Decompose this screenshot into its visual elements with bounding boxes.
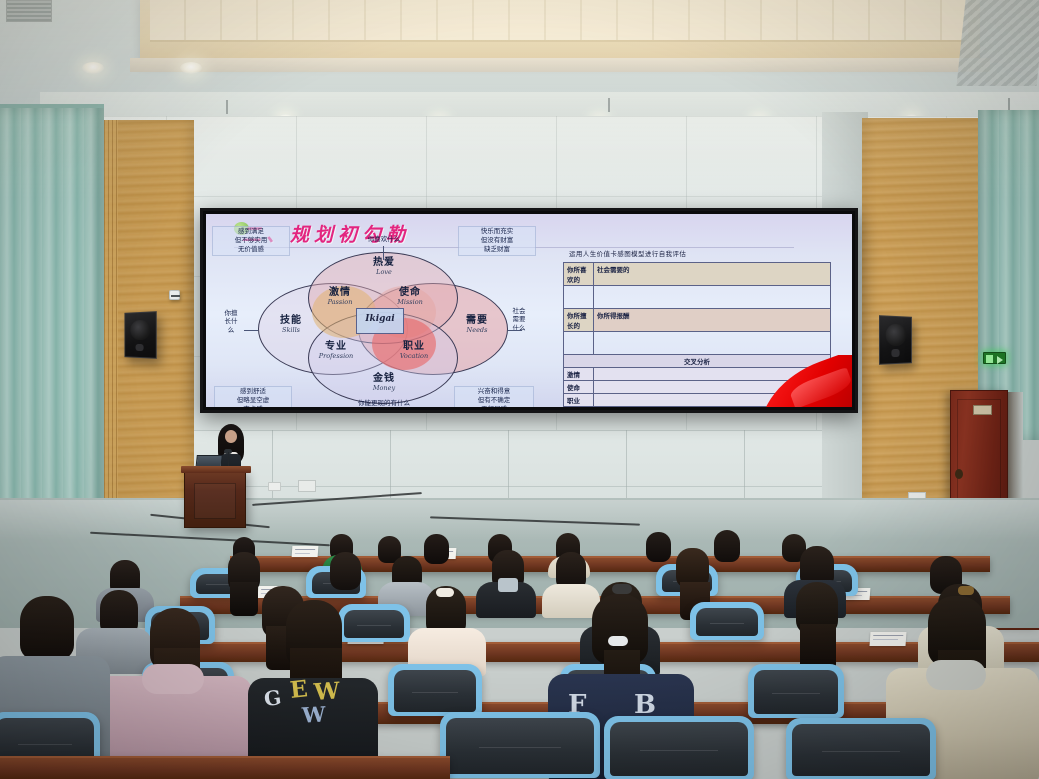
lecture-hall-photo: 二、规划初勾勒 热爱 Love 技能 Skills xyxy=(0,0,1039,779)
venn-label-profession: 专业 Profession xyxy=(302,342,370,359)
podium xyxy=(184,470,246,528)
exit-sign-icon xyxy=(983,352,1006,364)
audience-head xyxy=(20,596,74,660)
venn-label-needs: 需要 Needs xyxy=(444,316,510,333)
handout-paper xyxy=(292,546,319,557)
seat[interactable] xyxy=(604,716,754,779)
venn-note-top-left: 感到满足 但不够实用 无价值感 xyxy=(212,226,290,256)
cross-row-label-mission: 使命 xyxy=(564,381,594,394)
downlight-icon xyxy=(82,62,104,74)
audience-hood xyxy=(498,578,518,592)
wall-outlet-icon xyxy=(268,482,281,491)
door-sign-plate xyxy=(973,405,992,415)
presenter-face xyxy=(225,430,237,443)
podium-top xyxy=(181,466,251,473)
ceiling-cornice xyxy=(130,58,990,72)
audience-hair-tail xyxy=(230,582,258,616)
curtain-left xyxy=(0,108,104,560)
presentation-slide: 二、规划初勾勒 热爱 Love 技能 Skills xyxy=(206,214,852,407)
hood-icon xyxy=(926,660,986,690)
venn-axis-bottom: 你能更现的有什么 xyxy=(324,400,444,407)
wall-speaker-right xyxy=(879,315,912,365)
exit-sign-figure-icon xyxy=(986,355,993,363)
speaker-tweeter-icon xyxy=(136,344,144,351)
wall-speaker-left xyxy=(124,311,156,359)
audience-head xyxy=(646,532,671,562)
hair-tie-icon xyxy=(608,636,628,646)
handout-paper xyxy=(870,632,907,646)
desk-row-5 xyxy=(0,756,450,779)
venn-note-top-right: 快乐而充实 但没有财富 缺乏财富 xyxy=(458,226,536,256)
table-cell-reward[interactable] xyxy=(594,332,831,355)
cross-row-label-vocation: 职业 xyxy=(564,394,594,407)
hoodie-hood xyxy=(142,664,204,694)
exit-sign-arrow-icon xyxy=(997,356,1003,364)
downlight-icon xyxy=(180,62,202,74)
hair-tie-icon xyxy=(436,588,454,597)
audience-head xyxy=(424,534,449,564)
table-header-society: 社会需要的 xyxy=(594,263,831,286)
venn-label-love: 热爱 Love xyxy=(348,258,420,275)
podium-front-panel xyxy=(194,483,236,519)
ceiling-hanger xyxy=(226,100,228,114)
audience-head xyxy=(714,530,740,562)
venn-label-passion: 激情 Passion xyxy=(310,288,370,305)
seat[interactable] xyxy=(748,664,844,718)
table-cell-skills[interactable] xyxy=(564,332,594,355)
cross-row-label-profession: 专业 xyxy=(564,407,594,408)
door-handle-icon[interactable] xyxy=(955,469,963,479)
seat[interactable] xyxy=(440,712,600,778)
seat[interactable] xyxy=(338,604,410,642)
ceiling-vent-right-icon xyxy=(956,0,1039,86)
audience-torso xyxy=(542,584,600,618)
seat[interactable] xyxy=(690,602,764,640)
speaker-driver-icon xyxy=(130,320,150,341)
ceiling-hanger xyxy=(608,98,610,112)
table-header-skills: 你所擅长的 xyxy=(564,309,594,332)
ceiling-light-panel xyxy=(150,0,968,42)
venn-note-bottom-left: 感到舒适 但略显空虚 空虚感 xyxy=(214,386,292,407)
audience-head xyxy=(330,552,361,590)
venn-note-bottom-right: 兴奋和得意 但有不确定 无归属感 xyxy=(454,386,534,407)
venn-axis-top: 你喜欢什么 xyxy=(336,236,432,244)
jacket-logo-icon: G xyxy=(262,685,284,711)
ikigai-venn-diagram: 热爱 Love 技能 Skills 需要 Needs 金钱 Money 激情 xyxy=(240,250,552,407)
venn-label-mission: 使命 Mission xyxy=(380,288,440,305)
venn-center-ikigai: Ikigai xyxy=(356,308,404,334)
jacket-logo-icon: E xyxy=(289,675,311,704)
jacket-logo-icon: W xyxy=(301,701,328,727)
speaker-tweeter-icon xyxy=(892,349,900,357)
venn-label-money: 金钱 Money xyxy=(348,374,420,391)
wall-sensor-icon xyxy=(169,290,180,300)
table-cell-society[interactable] xyxy=(594,286,831,309)
table-header-likes: 你所喜欢的 xyxy=(564,263,594,286)
venn-arrow-right xyxy=(508,330,522,331)
venn-label-vocation: 职业 Vocation xyxy=(382,342,446,359)
cross-row-label-passion: 激情 xyxy=(564,368,594,381)
speaker-driver-icon xyxy=(886,324,906,346)
venn-arrow-left xyxy=(244,330,258,331)
venn-arrow-top xyxy=(383,246,384,260)
assessment-table-title: 运用人生价值卡感图模型进行自我评估 xyxy=(569,248,686,258)
ceiling-vent-icon xyxy=(6,0,52,22)
venn-axis-left: 你擅长什么 xyxy=(224,310,238,335)
table-cell-likes[interactable] xyxy=(564,286,594,309)
slide-red-ribbon-decoration xyxy=(762,355,852,407)
wall-plate-icon xyxy=(298,480,316,492)
led-screen: 二、规划初勾勒 热爱 Love 技能 Skills xyxy=(200,208,858,413)
hair-clip-icon xyxy=(958,586,974,595)
table-header-reward: 你所得报酬 xyxy=(594,309,831,332)
hair-clip-icon xyxy=(612,584,632,594)
venn-label-skills: 技能 Skills xyxy=(258,316,324,333)
seat[interactable] xyxy=(786,718,936,779)
seat[interactable] xyxy=(388,664,482,716)
